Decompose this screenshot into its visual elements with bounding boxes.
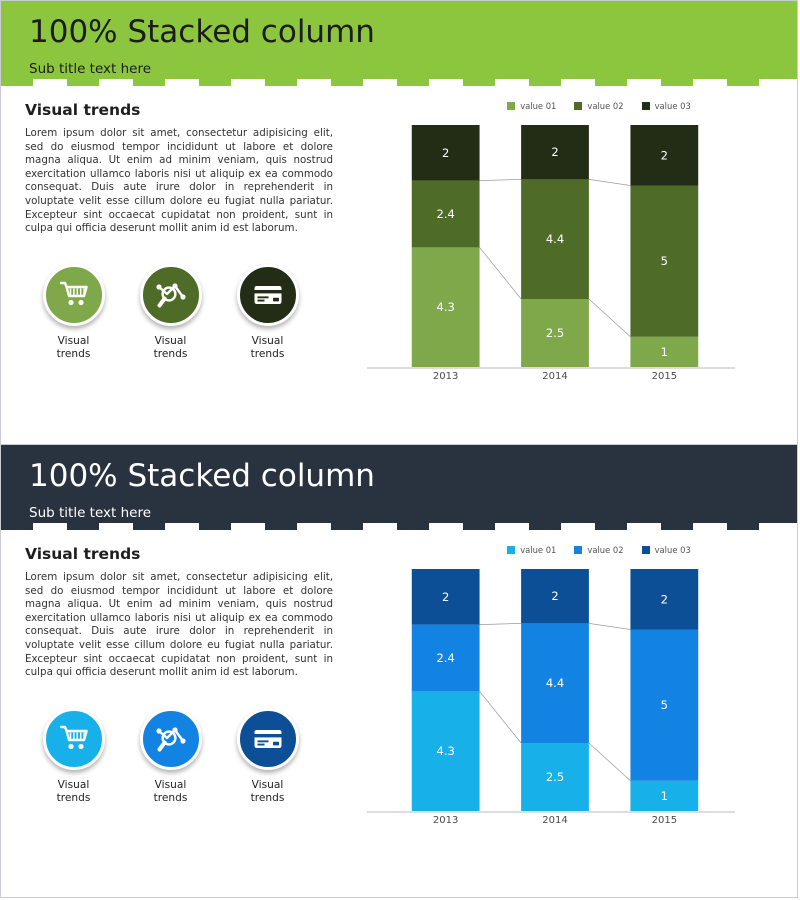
shopping-cart-icon[interactable] (43, 264, 105, 326)
bar-value-label: 2.4 (437, 207, 455, 221)
header-notch (265, 79, 297, 86)
bar-value-label: 2.5 (546, 326, 564, 340)
legend-label: value 02 (587, 101, 623, 111)
chart-magnifier-icon[interactable] (140, 264, 202, 326)
legend-item[interactable]: value 03 (642, 101, 691, 111)
x-axis-labels: 201320142015 (359, 815, 745, 835)
bar-segment[interactable]: 1 (630, 781, 698, 811)
header-notch (133, 523, 165, 530)
legend-label: value 01 (520, 545, 556, 555)
header-notch (133, 79, 165, 86)
page-subtitle: Sub title text here (29, 492, 797, 521)
bar-value-label: 5 (661, 698, 668, 712)
section-heading: Visual trends (25, 101, 353, 119)
header-notch (67, 523, 99, 530)
bar-segment[interactable]: 2.5 (521, 743, 589, 811)
slide-dark: 100% Stacked column Sub title text here … (1, 444, 797, 899)
stacked-column-chart-green: 4.32.422.54.42152201320142015 (359, 119, 745, 391)
bar-value-label: 2 (661, 148, 668, 162)
x-axis-tick-label: 2014 (542, 371, 567, 382)
header-notch (265, 523, 297, 530)
bar-value-label: 2.4 (437, 651, 455, 665)
icon-label: Visualtrends (219, 335, 316, 361)
bar-value-label: 4.4 (546, 676, 564, 690)
legend-swatch (574, 102, 582, 110)
legend-swatch (507, 102, 515, 110)
bar-value-label: 2 (551, 589, 558, 603)
bar-segment[interactable]: 1 (630, 337, 698, 367)
page-title: 100% Stacked column (29, 445, 797, 492)
bar-segment[interactable]: 4.4 (521, 623, 589, 743)
bar-segment[interactable]: 2 (630, 569, 698, 630)
header-notch (661, 79, 693, 86)
header-notch (595, 79, 627, 86)
icon-tile[interactable]: Visualtrends (122, 264, 219, 361)
bar-segment[interactable]: 2.4 (412, 181, 480, 248)
presentation-page: 100% Stacked column Sub title text here … (0, 0, 798, 898)
bar-segment[interactable]: 4.3 (412, 247, 480, 367)
section-heading: Visual trends (25, 545, 353, 563)
bar-value-label: 1 (661, 345, 668, 359)
bar-value-label: 2.5 (546, 770, 564, 784)
bar-segment[interactable]: 4.4 (521, 179, 589, 299)
legend-swatch (642, 102, 650, 110)
credit-card-icon[interactable] (237, 708, 299, 770)
legend-swatch (574, 546, 582, 554)
header-notch (199, 523, 231, 530)
page-subtitle: Sub title text here (29, 48, 797, 77)
bar-value-label: 2 (442, 590, 449, 604)
bar-value-label: 2 (661, 592, 668, 606)
x-axis-tick-label: 2015 (652, 371, 677, 382)
icon-tile[interactable]: Visualtrends (122, 708, 219, 805)
legend-item[interactable]: value 01 (507, 101, 556, 111)
x-axis-tick-label: 2013 (433, 815, 458, 826)
bar-segment[interactable]: 5 (630, 186, 698, 337)
header-notch (463, 523, 495, 530)
header-notch (397, 79, 429, 86)
slide-green: 100% Stacked column Sub title text here … (1, 1, 797, 444)
header-notch (463, 79, 495, 86)
slide-header-green: 100% Stacked column Sub title text here (1, 1, 797, 79)
legend-label: value 03 (655, 545, 691, 555)
header-notch (1, 79, 33, 86)
text-column-dark: Visual trends Lorem ipsum dolor sit amet… (1, 545, 353, 835)
legend-item[interactable]: value 02 (574, 101, 623, 111)
icon-tile[interactable]: Visualtrends (219, 264, 316, 361)
icon-tile[interactable]: Visualtrends (25, 264, 122, 361)
icon-row-dark: VisualtrendsVisualtrendsVisualtrends (25, 708, 345, 805)
bar-segment[interactable]: 2 (521, 569, 589, 623)
slide-header-dark: 100% Stacked column Sub title text here (1, 445, 797, 523)
header-notch (331, 523, 363, 530)
slide-body-dark: Visual trends Lorem ipsum dolor sit amet… (1, 523, 797, 835)
legend-swatch (507, 546, 515, 554)
bar-segment[interactable]: 4.3 (412, 691, 480, 811)
bar-segment[interactable]: 5 (630, 630, 698, 781)
header-notch (1, 523, 33, 530)
icon-tile[interactable]: Visualtrends (219, 708, 316, 805)
bar-value-label: 4.4 (546, 232, 564, 246)
icon-label: Visualtrends (122, 335, 219, 361)
text-column-green: Visual trends Lorem ipsum dolor sit amet… (1, 101, 353, 391)
icon-label: Visualtrends (25, 335, 122, 361)
chart-magnifier-icon[interactable] (140, 708, 202, 770)
chart-column-green: value 01value 02value 03 4.32.422.54.421… (353, 101, 797, 391)
header-notch-strip-dark (1, 523, 797, 530)
icon-tile[interactable]: Visualtrends (25, 708, 122, 805)
bar-value-label: 2 (551, 145, 558, 159)
legend-label: value 01 (520, 101, 556, 111)
legend-item[interactable]: value 03 (642, 545, 691, 555)
header-notch (397, 523, 429, 530)
chart-column-dark: value 01value 02value 03 4.32.422.54.421… (353, 545, 797, 835)
legend-item[interactable]: value 01 (507, 545, 556, 555)
bar-segment[interactable]: 2 (630, 125, 698, 186)
section-paragraph: Lorem ipsum dolor sit amet, consectetur … (25, 571, 333, 680)
header-notch (199, 79, 231, 86)
bar-segment[interactable]: 2.5 (521, 299, 589, 367)
header-notch (661, 523, 693, 530)
shopping-cart-icon[interactable] (43, 708, 105, 770)
page-title: 100% Stacked column (29, 1, 797, 48)
bar-value-label: 4.3 (437, 300, 455, 314)
legend-label: value 03 (655, 101, 691, 111)
bar-value-label: 2 (442, 146, 449, 160)
header-notch (331, 79, 363, 86)
bar-value-label: 4.3 (437, 744, 455, 758)
bar-segment[interactable]: 2.4 (412, 625, 480, 692)
header-notch (727, 523, 759, 530)
bar-value-label: 5 (661, 254, 668, 268)
section-paragraph: Lorem ipsum dolor sit amet, consectetur … (25, 127, 333, 236)
legend-item[interactable]: value 02 (574, 545, 623, 555)
header-notch (529, 79, 561, 86)
x-axis-tick-label: 2015 (652, 815, 677, 826)
icon-row-green: VisualtrendsVisualtrendsVisualtrends (25, 264, 345, 361)
stacked-column-chart-dark: 4.32.422.54.42152201320142015 (359, 563, 745, 835)
credit-card-icon[interactable] (237, 264, 299, 326)
x-axis-labels: 201320142015 (359, 371, 745, 391)
header-notch (529, 523, 561, 530)
bar-segment[interactable]: 2 (521, 125, 589, 179)
x-axis-tick-label: 2014 (542, 815, 567, 826)
header-notch (67, 79, 99, 86)
chart-legend-green: value 01value 02value 03 (401, 101, 797, 111)
header-notch (727, 79, 759, 86)
bar-segment[interactable]: 2 (412, 569, 480, 625)
bar-segment[interactable]: 2 (412, 125, 480, 181)
header-notch-strip-green (1, 79, 797, 86)
slide-body-green: Visual trends Lorem ipsum dolor sit amet… (1, 79, 797, 391)
header-notch (595, 523, 627, 530)
x-axis-tick-label: 2013 (433, 371, 458, 382)
icon-label: Visualtrends (25, 779, 122, 805)
icon-label: Visualtrends (219, 779, 316, 805)
icon-label: Visualtrends (122, 779, 219, 805)
legend-swatch (642, 546, 650, 554)
chart-legend-dark: value 01value 02value 03 (401, 545, 797, 555)
bar-value-label: 1 (661, 789, 668, 803)
legend-label: value 02 (587, 545, 623, 555)
